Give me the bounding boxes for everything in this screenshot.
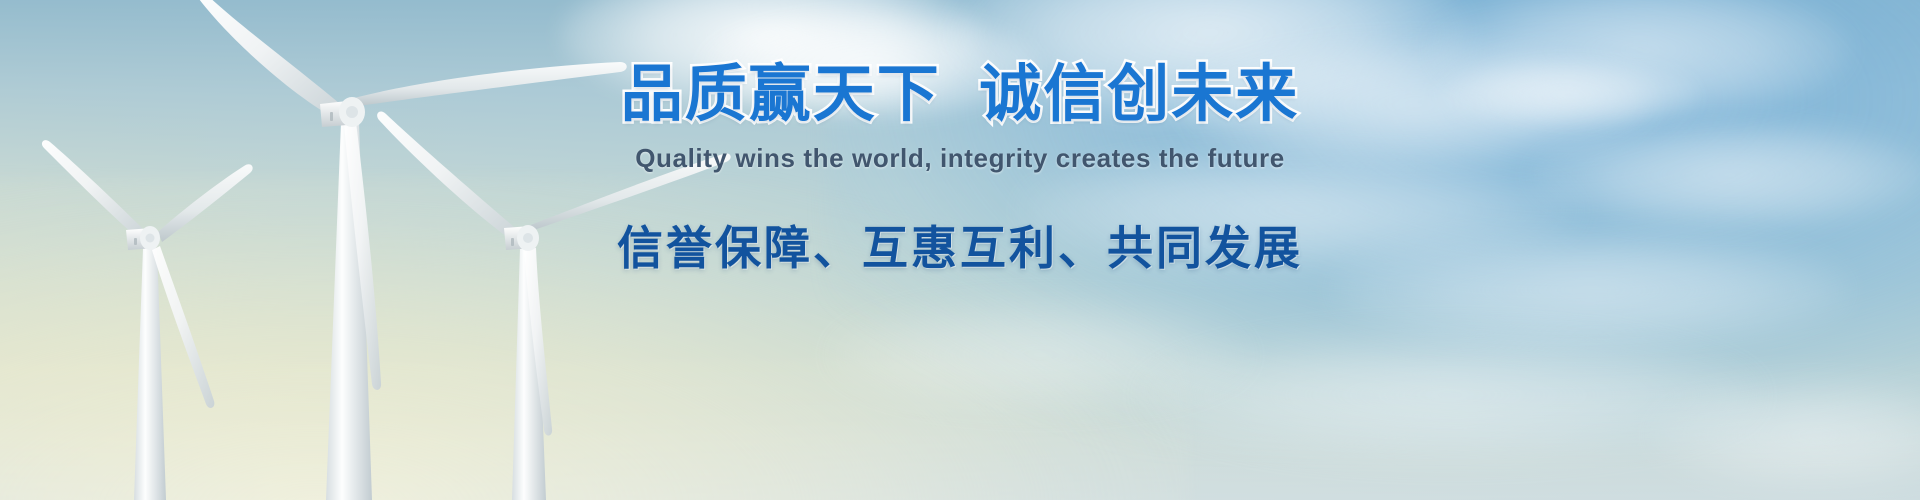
banner-subtitle-english: Quality wins the world, integrity create… — [0, 143, 1920, 174]
banner-headline: 品质赢天下 诚信创未来 — [0, 62, 1920, 129]
promo-banner: 品质赢天下 诚信创未来 Quality wins the world, inte… — [0, 0, 1920, 500]
banner-text-block: 品质赢天下 诚信创未来 Quality wins the world, inte… — [0, 62, 1920, 278]
banner-tagline: 信誉保障、互惠互利、共同发展 — [0, 212, 1920, 278]
